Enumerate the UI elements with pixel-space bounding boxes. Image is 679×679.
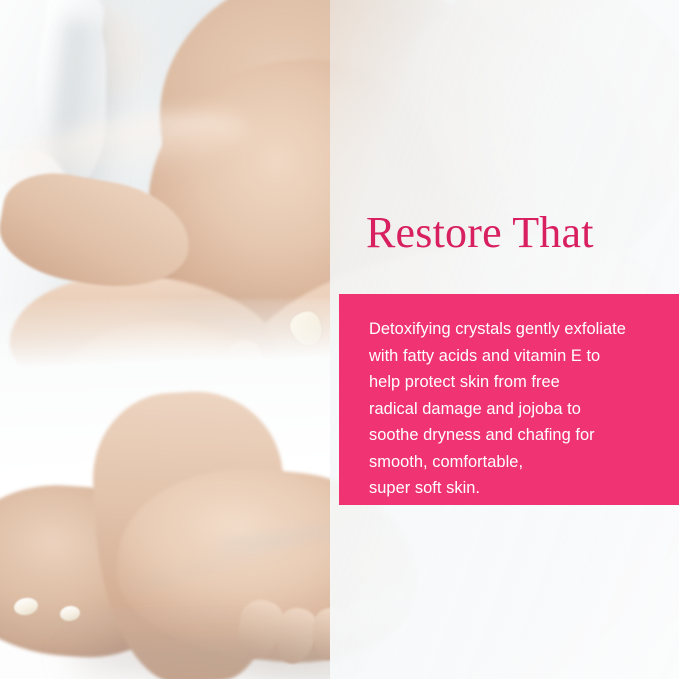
callout-line: help protect skin from free <box>369 369 659 396</box>
product-ad-canvas: Restore That Youthful Glow Detoxifying c… <box>0 0 679 679</box>
ad-headline-line-1: Restore That <box>366 207 676 258</box>
ad-callout-text: Detoxifying crystals gently exfoliate wi… <box>369 316 659 502</box>
ad-callout-box: Detoxifying crystals gently exfoliate wi… <box>339 294 679 505</box>
callout-line: smooth, comfortable, <box>369 449 659 476</box>
callout-line: radical damage and jojoba to <box>369 396 659 423</box>
callout-line: with fatty acids and vitamin E to <box>369 343 659 370</box>
callout-line: Detoxifying crystals gently exfoliate <box>369 316 659 343</box>
callout-line: soothe dryness and chafing for <box>369 422 659 449</box>
callout-line: super soft skin. <box>369 475 659 502</box>
